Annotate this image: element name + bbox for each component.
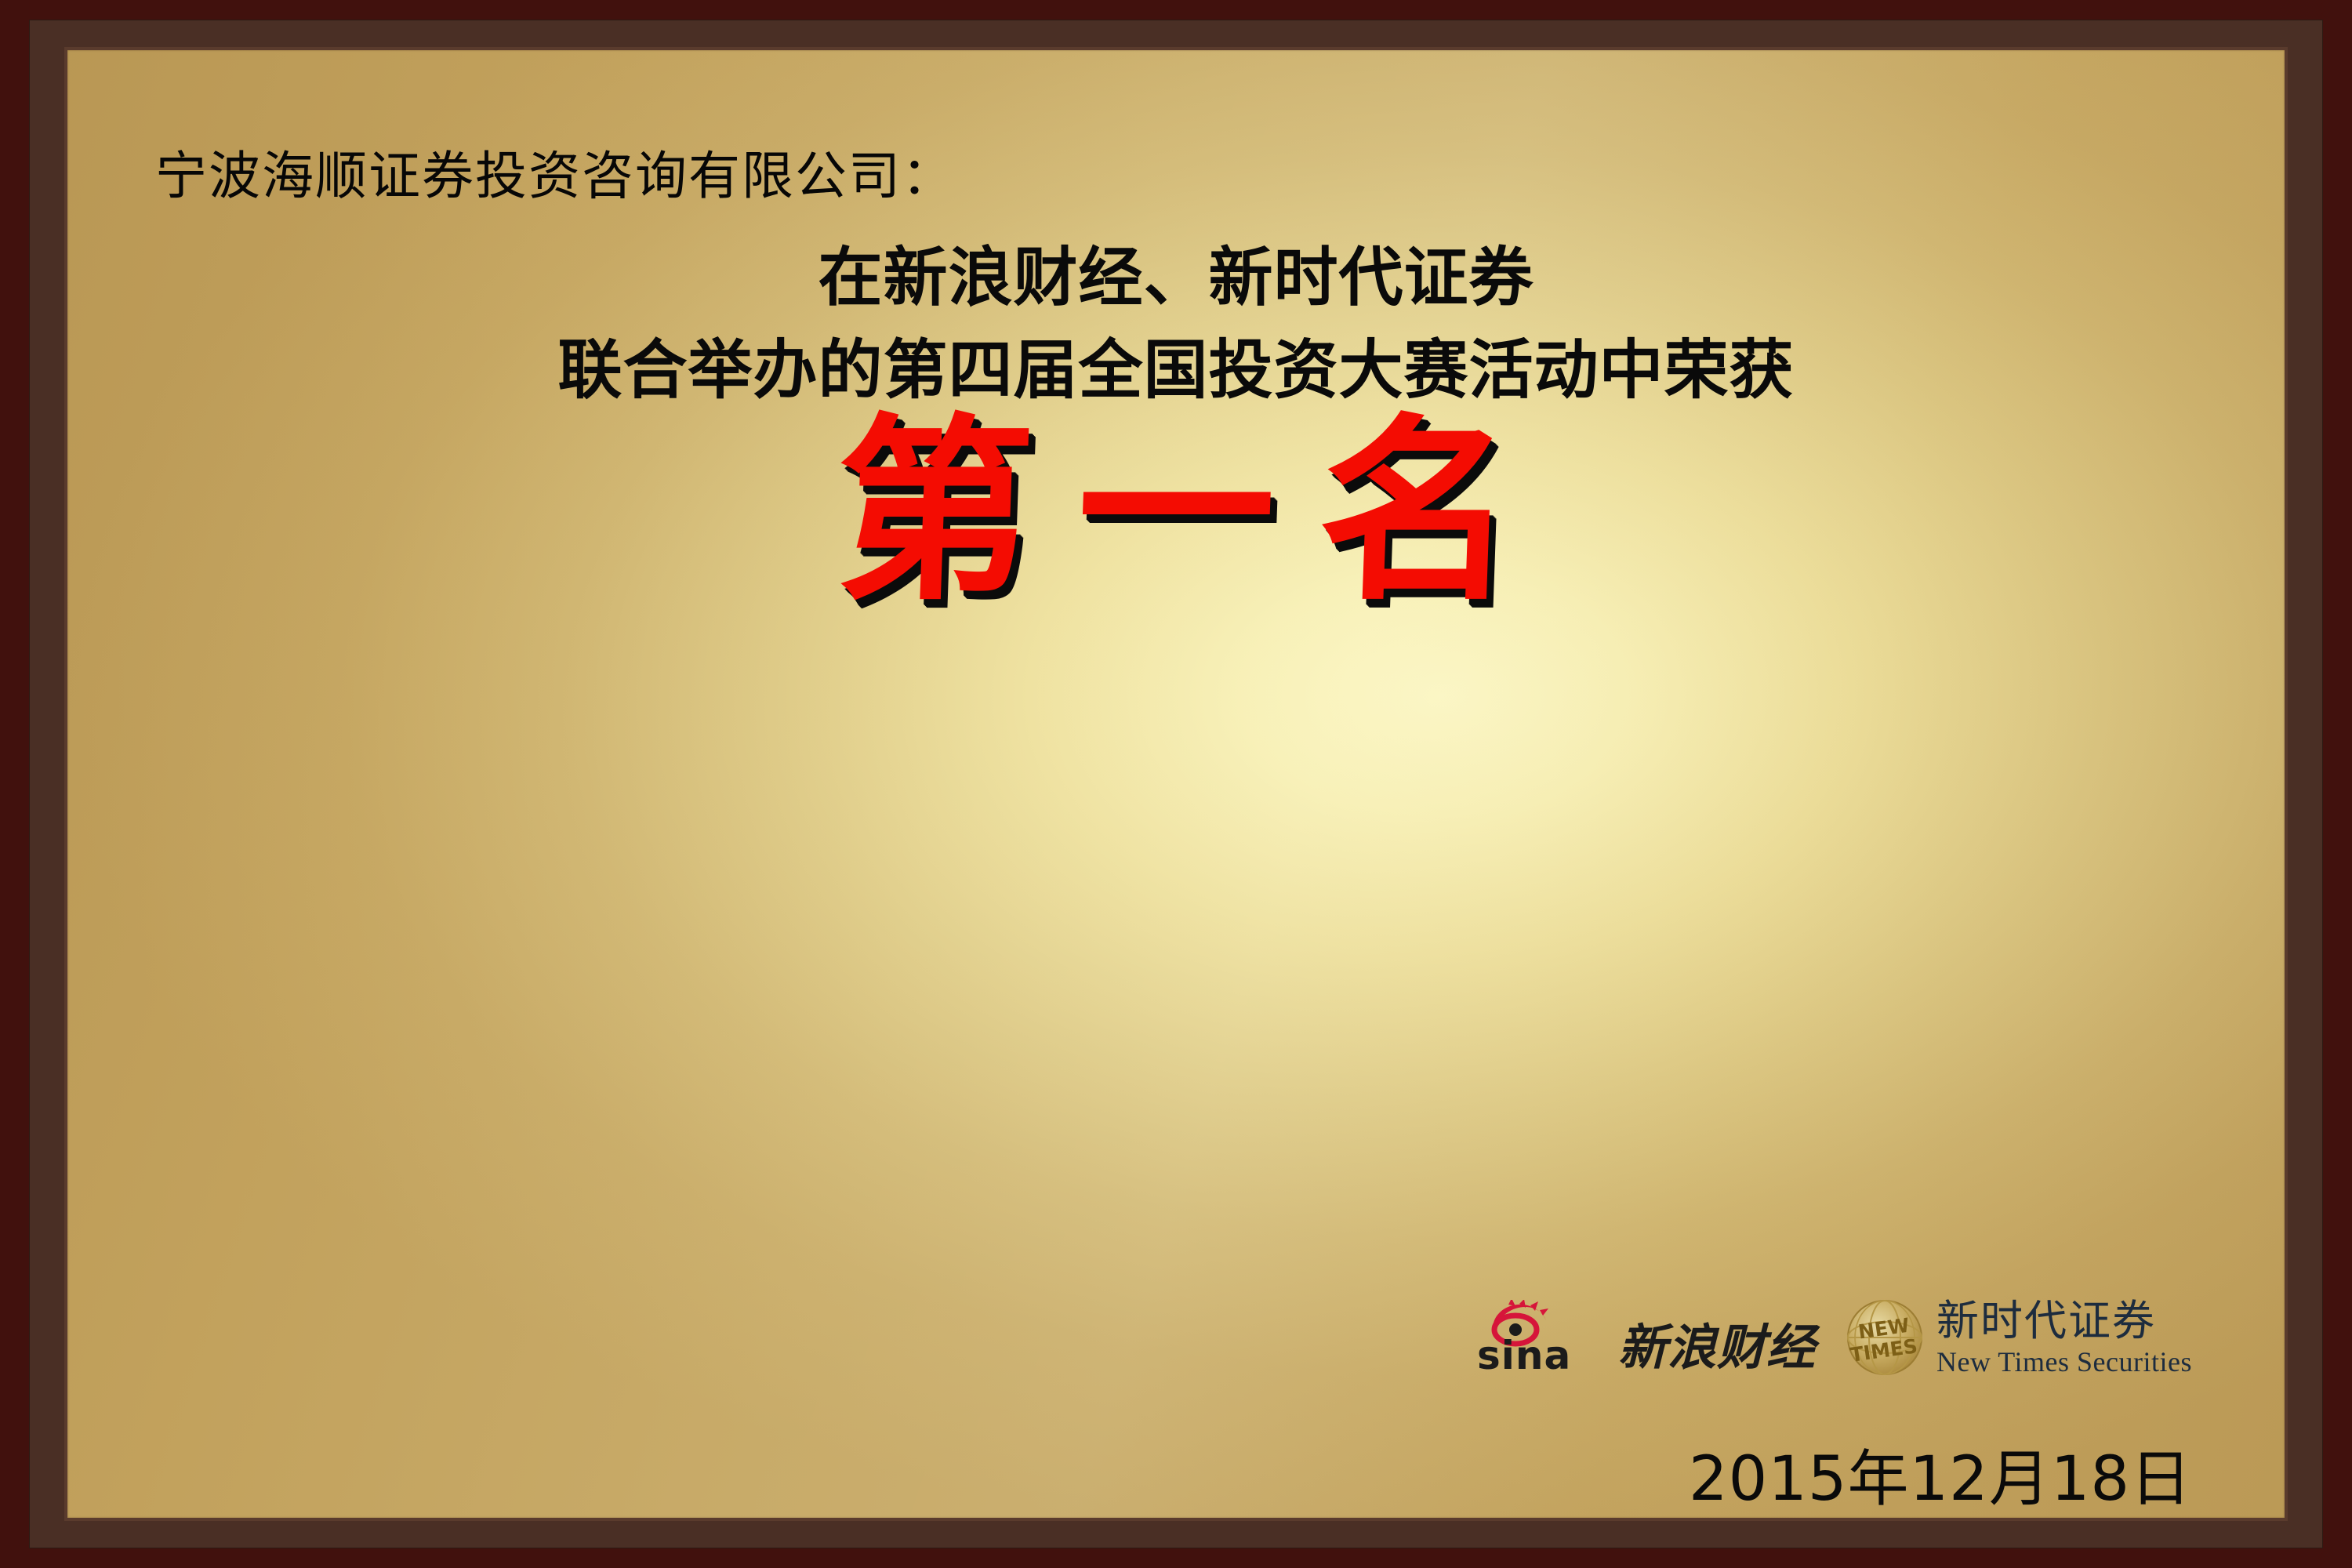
newtimes-label-cn: 新时代证券: [1936, 1300, 2192, 1342]
award-plaque: 宁波海顺证券投资咨询有限公司： 在新浪财经、新时代证券 联合举办的第四届全国投资…: [0, 0, 2352, 1568]
award-title: 第一名: [789, 412, 1564, 610]
newtimes-label-en: New Times Securities: [1936, 1348, 2192, 1376]
svg-text:sina: sina: [1479, 1333, 1571, 1375]
sina-eye-icon: sina: [1479, 1300, 1610, 1375]
logo-sina-finance: sina 新浪财经: [1479, 1300, 1816, 1375]
gold-panel: 宁波海顺证券投资咨询有限公司： 在新浪财经、新时代证券 联合举办的第四届全国投资…: [67, 50, 2285, 1518]
newtimes-wordmark: 新时代证券 New Times Securities: [1936, 1300, 2192, 1376]
recipient-salutation: 宁波海顺证券投资咨询有限公司：: [155, 146, 955, 208]
issue-date: 2015年12月18日: [1689, 1430, 2192, 1518]
logo-new-times-securities: NEW TIMES 新时代证券 New Times Securities: [1844, 1297, 2192, 1378]
plaque-content: 宁波海顺证券投资咨询有限公司： 在新浪财经、新时代证券 联合举办的第四届全国投资…: [67, 50, 2285, 1518]
sponsor-logos: sina 新浪财经: [1479, 1297, 2192, 1378]
citation-line-1: 在新浪财经、新时代证券: [67, 232, 2285, 325]
award-title-wrap: 第一名: [67, 412, 2285, 610]
newtimes-globe-icon: NEW TIMES: [1844, 1297, 1926, 1378]
sina-label: 新浪财经: [1618, 1323, 1816, 1375]
citation-body: 在新浪财经、新时代证券 联合举办的第四届全国投资大赛活动中荣获: [67, 232, 2285, 417]
